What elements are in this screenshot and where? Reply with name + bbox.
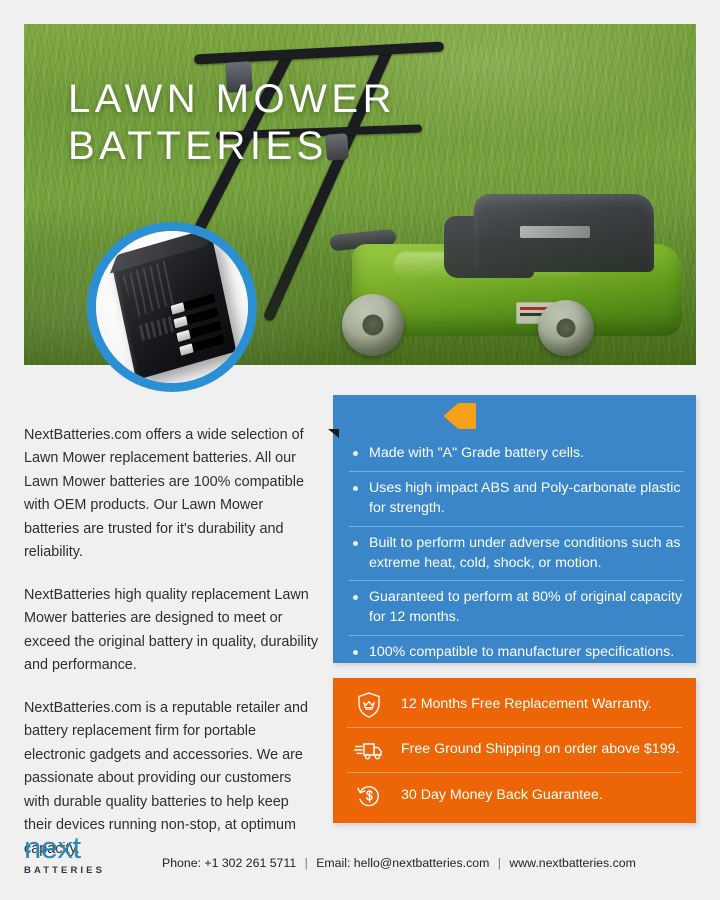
bullet-dot-icon	[353, 486, 358, 491]
contact-separator: |	[300, 856, 313, 870]
bullet-dot-icon	[353, 595, 358, 600]
money-back-icon	[347, 782, 391, 810]
feature-item: Uses high impact ABS and Poly-carbonate …	[349, 472, 684, 527]
delivery-truck-icon	[347, 738, 391, 762]
benefit-text: 12 Months Free Replacement Warranty.	[391, 695, 652, 715]
mower-illustration	[324, 174, 696, 365]
body-paragraph-1: NextBatteries.com offers a wide selectio…	[24, 424, 320, 565]
body-paragraph-2: NextBatteries high quality replacement L…	[24, 584, 320, 678]
phone-label: Phone:	[162, 856, 201, 870]
contact-separator: |	[493, 856, 506, 870]
phone-number[interactable]: +1 302 261 5711	[204, 856, 296, 870]
body-copy: NextBatteries.com offers a wide selectio…	[24, 424, 320, 861]
brand-logo[interactable]: next BATTERIES	[24, 833, 136, 876]
shield-warranty-icon	[347, 691, 391, 719]
features-panel: FEATURES Made with "A" Grade battery cel…	[333, 395, 696, 663]
benefits-panel: 12 Months Free Replacement Warranty. Fre…	[333, 678, 696, 823]
benefit-text: 30 Day Money Back Guarantee.	[391, 786, 603, 806]
battery-product-image	[96, 231, 248, 383]
battery-pack-icon	[112, 236, 237, 380]
feature-text: Made with "A" Grade battery cells.	[369, 444, 584, 464]
feature-text: Guaranteed to perform at 80% of original…	[369, 588, 684, 628]
feature-item: 100% compatible to manufacturer specific…	[349, 636, 684, 670]
logo-subtitle: BATTERIES	[24, 865, 136, 876]
features-ribbon-label: FEATURES	[345, 408, 423, 424]
benefit-text: Free Ground Shipping on order above $199…	[391, 740, 679, 760]
feature-text: Built to perform under adverse condition…	[369, 534, 684, 574]
email-label: Email:	[316, 856, 350, 870]
feature-text: Uses high impact ABS and Poly-carbonate …	[369, 479, 684, 519]
feature-text: 100% compatible to manufacturer specific…	[369, 643, 674, 663]
email-address[interactable]: hello@nextbatteries.com	[354, 856, 490, 870]
ribbon-fold-shape	[328, 429, 339, 438]
bullet-dot-icon	[353, 650, 358, 655]
bullet-dot-icon	[353, 451, 358, 456]
flyer-page: LAWN MOWER BATTERIES NextBatteries.com o…	[0, 0, 720, 900]
benefit-row: Free Ground Shipping on order above $199…	[347, 728, 682, 773]
benefit-row: 12 Months Free Replacement Warranty.	[347, 683, 682, 728]
hero-title: LAWN MOWER BATTERIES	[68, 76, 396, 170]
feature-item: Made with "A" Grade battery cells.	[349, 437, 684, 472]
battery-product-circle	[87, 222, 257, 392]
footer: next BATTERIES Phone: +1 302 261 5711 | …	[24, 833, 696, 876]
features-list: Made with "A" Grade battery cells. Uses …	[349, 437, 684, 670]
website-url[interactable]: www.nextbatteries.com	[509, 856, 635, 870]
feature-item: Built to perform under adverse condition…	[349, 527, 684, 582]
logo-wordmark: next	[24, 833, 136, 862]
feature-item: Guaranteed to perform at 80% of original…	[349, 581, 684, 636]
contact-line: Phone: +1 302 261 5711 | Email: hello@ne…	[136, 856, 636, 876]
bullet-dot-icon	[353, 541, 358, 546]
benefit-row: 30 Day Money Back Guarantee.	[347, 773, 682, 818]
features-ribbon: FEATURES	[328, 403, 476, 429]
